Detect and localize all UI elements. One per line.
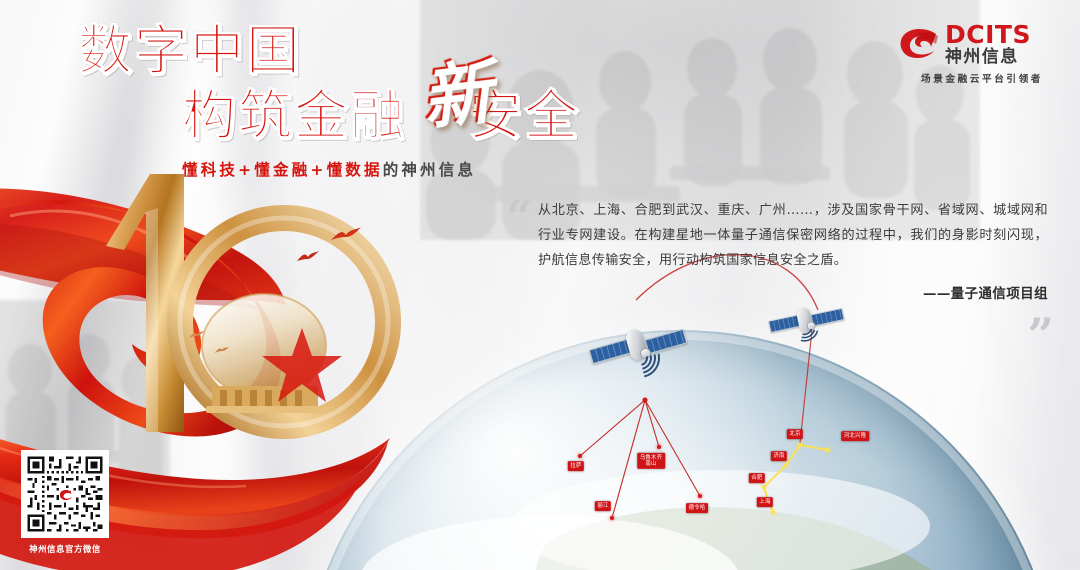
headline-line-1: 数字中国 xyxy=(78,24,698,78)
bird-icon-1 xyxy=(330,226,362,244)
network-node xyxy=(657,445,661,449)
promotional-banner: 拉萨丽江乌鲁木齐南山德令哈北京河北兴隆济南合肥上海 xyxy=(0,0,1080,570)
network-node xyxy=(698,494,702,498)
quote-attribution: ——量子通信项目组 xyxy=(538,282,1048,302)
network-node xyxy=(578,454,582,458)
city-label: 丽江 xyxy=(595,501,611,511)
qr-code-icon[interactable] xyxy=(21,450,109,538)
bird-icon-4 xyxy=(214,346,230,355)
quote-open-mark: “ xyxy=(506,194,532,240)
headline-line-2-before: 构筑金融 xyxy=(182,84,406,147)
qr-caption: 神州信息官方微信 xyxy=(16,543,114,555)
logo-tagline: 场景金融云平台引领者 xyxy=(898,71,1066,85)
logo-row: DCITS 神州信息 xyxy=(898,22,1066,66)
anniversary-10-emblem xyxy=(88,150,408,450)
quote-block: “ 从北京、上海、合肥到武汉、重庆、广州……，涉及国家骨干网、省域网、城域网和行… xyxy=(538,198,1048,302)
subtitle-red-part: 懂科技+懂金融+懂数据 xyxy=(182,161,383,179)
wechat-qr-block[interactable]: 神州信息官方微信 xyxy=(16,450,114,555)
quote-text: 从北京、上海、合肥到武汉、重庆、广州……，涉及国家骨干网、省域网、城域网和行业专… xyxy=(538,198,1048,273)
city-label: 上海 xyxy=(757,497,773,507)
network-node xyxy=(771,510,775,514)
logo-text: DCITS 神州信息 xyxy=(945,22,1031,66)
headline-line-2: 构筑金融安全 新 xyxy=(182,89,698,143)
network-node xyxy=(826,448,830,452)
earth-globe-visual xyxy=(300,330,1080,570)
swirl-e-logo-icon xyxy=(898,27,940,61)
bird-icon-3 xyxy=(188,330,206,340)
red-ribbon-top xyxy=(0,185,290,365)
headline-block: 数字中国 构筑金融安全 新 xyxy=(78,24,698,143)
city-label: 河北兴隆 xyxy=(841,431,869,441)
headline-gold-character: 新 xyxy=(416,55,496,133)
city-label: 北京 xyxy=(787,429,803,439)
quote-close-mark: ” xyxy=(1028,312,1054,358)
network-node xyxy=(784,463,788,467)
network-node xyxy=(798,443,802,447)
city-label: 拉萨 xyxy=(568,461,584,471)
city-label: 德令哈 xyxy=(686,503,708,513)
globe-atmosphere-haze xyxy=(286,316,1074,570)
network-node xyxy=(762,485,766,489)
bird-icon-2 xyxy=(296,250,320,264)
logo-name-en: DCITS xyxy=(945,22,1031,47)
company-logo[interactable]: DCITS 神州信息 场景金融云平台引领者 xyxy=(898,22,1066,85)
subtitle-gray-part: 的神州信息 xyxy=(383,161,477,179)
subtitle: 懂科技+懂金融+懂数据的神州信息 xyxy=(182,158,476,180)
city-label: 合肥 xyxy=(749,473,765,483)
globe-landmass-overlay xyxy=(300,330,1060,570)
city-label: 济南 xyxy=(771,451,787,461)
network-node xyxy=(610,516,614,520)
logo-name-cn: 神州信息 xyxy=(945,49,1031,66)
globe-sphere xyxy=(300,330,1060,570)
city-label: 乌鲁木齐南山 xyxy=(637,453,665,469)
